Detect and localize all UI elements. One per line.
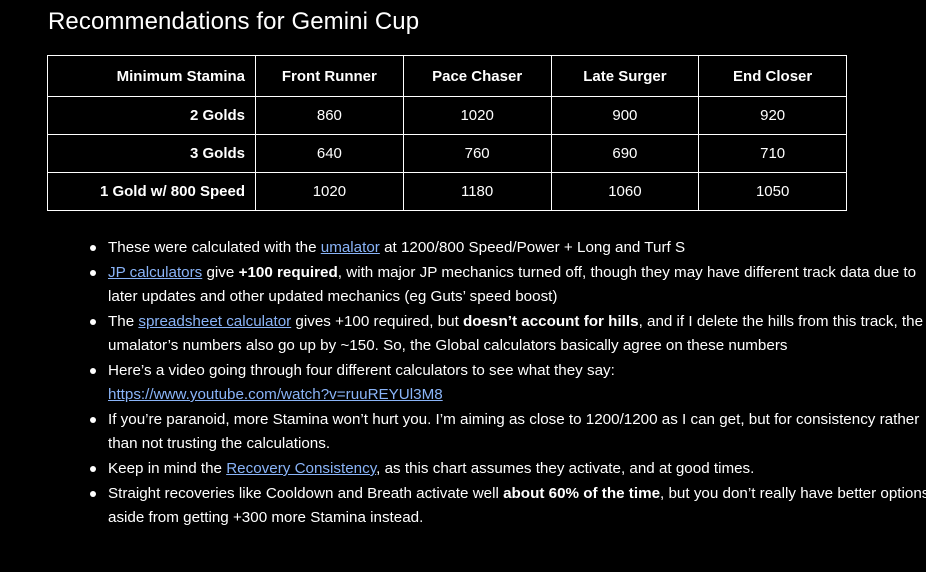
note-1-text-after: at 1200/800 Speed/Power + Long and Turf … [380,239,685,256]
note-7-bold: about 60% of the time [503,485,660,502]
cell-2golds-pace-chaser: 1020 [403,97,551,135]
note-1-text-before: These were calculated with the [108,239,321,256]
cell-3golds-late-surger: 690 [551,135,699,173]
cell-3golds-front-runner: 640 [256,135,404,173]
note-6-text-1: Keep in mind the [108,460,226,477]
list-item: Keep in mind the Recovery Consistency, a… [108,457,926,481]
table-row: 1 Gold w/ 800 Speed 1020 1180 1060 1050 [48,173,847,211]
recovery-consistency-link[interactable]: Recovery Consistency [226,460,376,477]
list-item: These were calculated with the umalator … [108,236,926,260]
table-header-row: Minimum Stamina Front Runner Pace Chaser… [48,56,847,97]
note-2-text-1: give [202,264,238,281]
cell-3golds-end-closer: 710 [699,135,847,173]
note-6-text-2: , as this chart assumes they activate, a… [376,460,754,477]
table-header-late-surger: Late Surger [551,56,699,97]
note-7-text-1: Straight recoveries like Cooldown and Br… [108,485,503,502]
notes-list: These were calculated with the umalator … [76,236,926,531]
umalator-link[interactable]: umalator [321,239,380,256]
table-header-pace-chaser: Pace Chaser [403,56,551,97]
list-item: JP calculators give +100 required, with … [108,261,926,309]
note-3-bold: doesn’t account for hills [463,313,639,330]
youtube-video-link[interactable]: https://www.youtube.com/watch?v=ruuREYUl… [108,386,443,403]
table-row: 2 Golds 860 1020 900 920 [48,97,847,135]
row-label-1-gold-800-speed: 1 Gold w/ 800 Speed [48,173,256,211]
note-3-text-1: The [108,313,138,330]
table-row: 3 Golds 640 760 690 710 [48,135,847,173]
document-page: Recommendations for Gemini Cup Minimum S… [0,0,926,572]
cell-2golds-end-closer: 920 [699,97,847,135]
table-header-front-runner: Front Runner [256,56,404,97]
cell-1gold-front-runner: 1020 [256,173,404,211]
row-label-2-golds: 2 Golds [48,97,256,135]
note-5-text: If you’re paranoid, more Stamina won’t h… [108,411,919,452]
row-label-3-golds: 3 Golds [48,135,256,173]
cell-2golds-late-surger: 900 [551,97,699,135]
note-2-bold: +100 required [239,264,338,281]
list-item: The spreadsheet calculator gives +100 re… [108,310,926,358]
note-3-text-2: gives +100 required, but [291,313,463,330]
list-item: If you’re paranoid, more Stamina won’t h… [108,408,926,456]
list-item: Straight recoveries like Cooldown and Br… [108,482,926,530]
cell-2golds-front-runner: 860 [256,97,404,135]
spreadsheet-calculator-link[interactable]: spreadsheet calculator [138,313,291,330]
table-header-minimum-stamina: Minimum Stamina [48,56,256,97]
recommendations-table: Minimum Stamina Front Runner Pace Chaser… [47,55,847,211]
cell-1gold-pace-chaser: 1180 [403,173,551,211]
table-header-end-closer: End Closer [699,56,847,97]
jp-calculators-link[interactable]: JP calculators [108,264,202,281]
note-4-text: Here’s a video going through four differ… [108,362,615,379]
page-title: Recommendations for Gemini Cup [48,8,419,36]
cell-1gold-end-closer: 1050 [699,173,847,211]
cell-3golds-pace-chaser: 760 [403,135,551,173]
list-item: Here’s a video going through four differ… [108,359,926,407]
cell-1gold-late-surger: 1060 [551,173,699,211]
